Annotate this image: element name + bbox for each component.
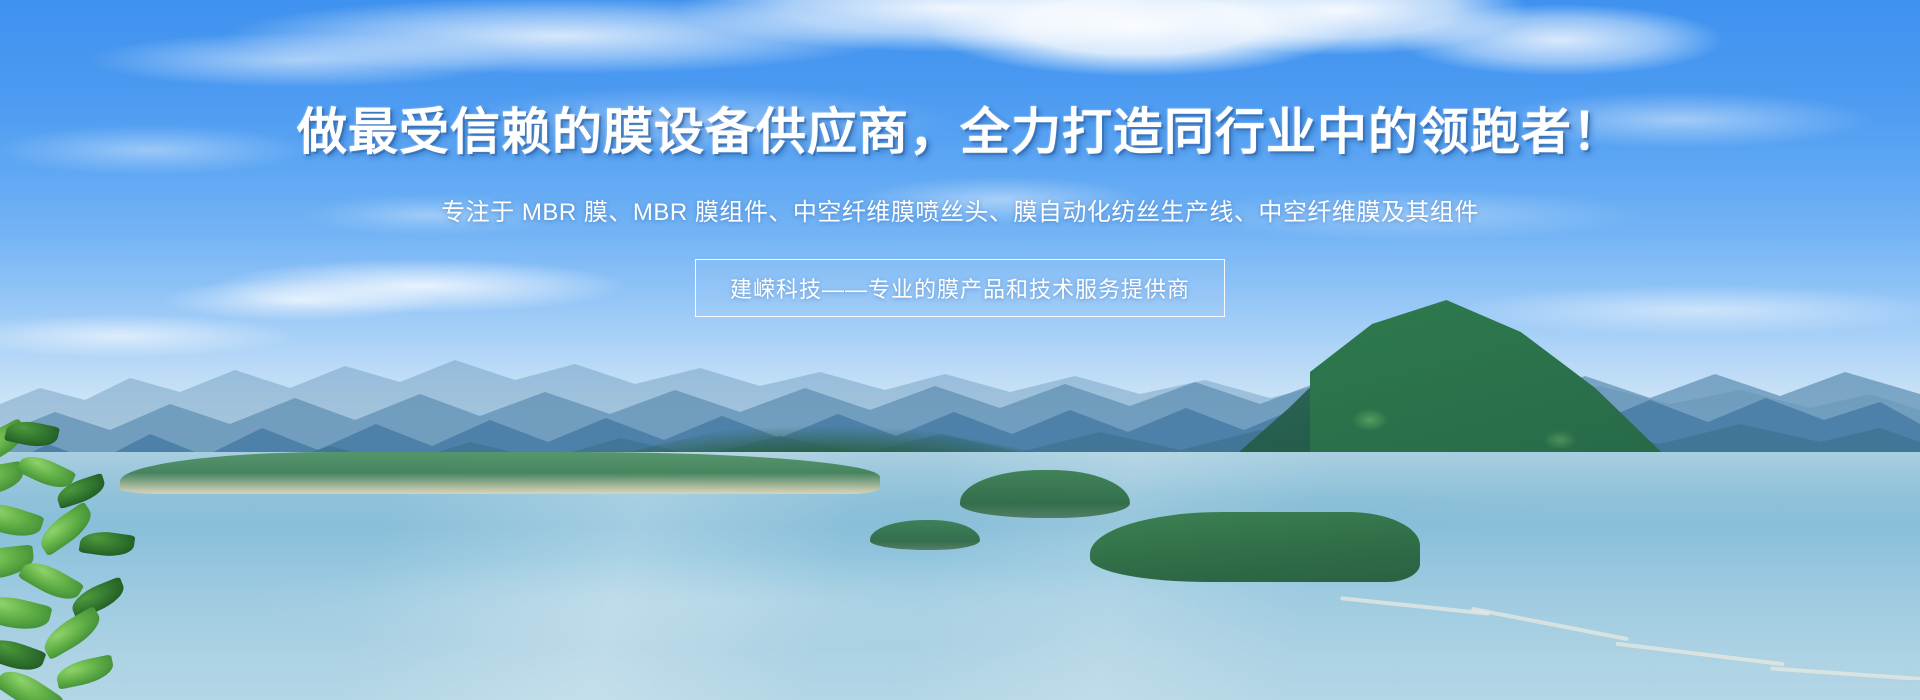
shoreline-right [1090,512,1420,582]
foreground-foliage [0,420,260,700]
banner-tagline-box: 建嵘科技——专业的膜产品和技术服务提供商 [695,259,1225,317]
hero-banner: 做最受信赖的膜设备供应商，全力打造同行业中的领跑者！ 专注于 MBR 膜、MBR… [0,0,1920,700]
banner-headline: 做最受信赖的膜设备供应商，全力打造同行业中的领跑者！ [297,104,1623,160]
banner-subtitle: 专注于 MBR 膜、MBR 膜组件、中空纤维膜喷丝头、膜自动化纺丝生产线、中空纤… [441,192,1479,227]
island-small [870,520,980,550]
